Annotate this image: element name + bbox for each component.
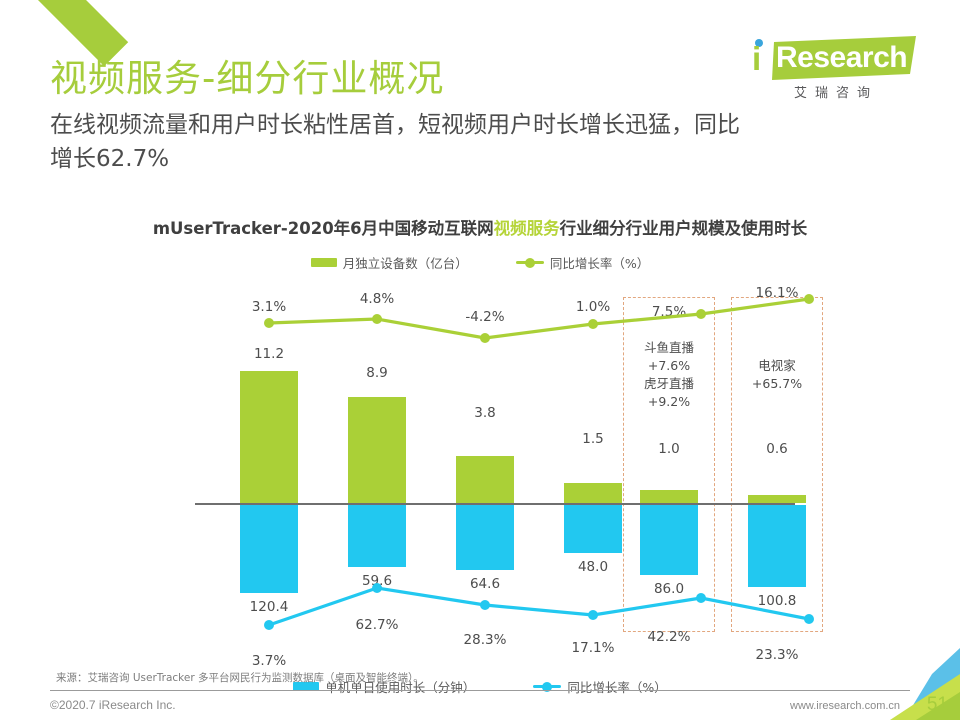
logo-letter-i: i [752,42,761,75]
bar-top-5 [748,495,806,503]
annotation-tv-live: 电视家 +65.7% [752,357,802,393]
growth-label-top-3: 1.0% [576,299,610,315]
annotation-game-line-1: +7.6% [648,358,690,373]
iresearch-logo: i Research 艾瑞咨询 [746,36,916,100]
chart-title-highlight: 视频服务 [494,219,560,238]
logo-wordmark: Research [776,43,907,73]
annotation-tv-line-0: 电视家 [758,358,796,373]
bar-top-3 [564,483,622,503]
growth-label-top-2: -4.2% [465,309,504,325]
chart-title-post: 行业细分行业用户规模及使用时长 [560,219,808,238]
value-label-bot-5: 100.8 [758,593,797,609]
chart-legend-top: 月独立设备数（亿台） 同比增长率（%） [50,253,910,272]
value-label-top-2: 3.8 [474,405,495,421]
value-label-top-3: 1.5 [582,431,603,447]
bar-bot-1 [348,505,406,567]
page-subtitle: 在线视频流量和用户时长粘性居首，短视频用户时长增长迅猛，同比增长62.7% [50,108,740,176]
growth-label-bot-2: 28.3% [464,632,507,648]
growth-label-top-4: 7.5% [652,304,686,320]
chart-title: mUserTracker-2020年6月中国移动互联网视频服务行业细分行业用户规… [50,215,910,239]
annotation-game-line-3: +9.2% [648,394,690,409]
annotation-tv-line-1: +65.7% [752,376,802,391]
growth-label-bot-3: 17.1% [572,640,615,656]
value-label-bot-0: 120.4 [250,599,289,615]
source-note: 来源：艾瑞咨询 UserTracker 多平台网民行为监测数据库（桌面及智能终端… [56,670,424,685]
bar-bot-3 [564,505,622,553]
growth-label-top-5: 16.1% [756,285,799,301]
bar-bot-2 [456,505,514,570]
legend-label-growth-blue: 同比增长率（%） [567,677,666,696]
bar-top-2 [456,456,514,503]
annotation-game-line-2: 虎牙直播 [644,376,694,391]
chart-column-0: 3.1% 11.2 在线视频 120.4 3.7% [219,277,319,650]
value-label-top-0: 11.2 [254,346,284,362]
bar-top-1 [348,397,406,503]
bar-top-4 [640,490,698,503]
legend-item-monthly-devices: 月独立设备数（亿台） [311,253,468,272]
growth-label-bot-1: 62.7% [356,617,399,633]
bar-bot-4 [640,505,698,575]
legend-item-growth-blue: 同比增长率（%） [533,677,666,696]
page-number: 51 [927,694,948,716]
value-label-top-1: 8.9 [366,365,387,381]
chart-plot-area: 3.1% 11.2 在线视频 120.4 3.7% 4.8% 8.9 短视频 5… [50,277,910,650]
value-label-top-4: 1.0 [658,441,679,457]
chart-column-3: 1.0% 1.5 社交直播 48.0 17.1% [543,277,643,650]
copyright-text: ©2020.7 iResearch Inc. [50,698,176,712]
legend-swatch-line-green-icon [516,261,544,264]
legend-label-growth-green: 同比增长率（%） [550,253,649,272]
value-label-top-5: 0.6 [766,441,787,457]
annotation-game-line-0: 斗鱼直播 [644,340,694,355]
annotation-game-live: 斗鱼直播 +7.6% 虎牙直播 +9.2% [644,339,694,411]
bar-bot-0 [240,505,298,593]
footer-divider [50,690,910,691]
chart-column-5: 16.1% 电视家 +65.7% 0.6 电视直播 100.8 23.3% [759,277,795,650]
legend-item-growth-green: 同比增长率（%） [516,253,649,272]
legend-label-monthly-devices: 月独立设备数（亿台） [343,253,468,272]
logo-chinese-name: 艾瑞咨询 [794,82,878,101]
value-label-bot-3: 48.0 [578,559,608,575]
value-label-bot-2: 64.6 [470,576,500,592]
legend-swatch-line-blue-icon [533,685,561,688]
growth-label-bot-5: 23.3% [756,647,799,663]
value-label-bot-4: 86.0 [654,581,684,597]
chart-title-pre: mUserTracker-2020年6月中国移动互联网 [153,219,494,238]
chart-column-4: 7.5% 斗鱼直播 +7.6% 虎牙直播 +9.2% 1.0 游戏直播 86.0… [651,277,687,650]
growth-label-top-1: 4.8% [360,291,394,307]
legend-swatch-bar-green-icon [311,258,337,267]
growth-label-bot-4: 42.2% [648,629,691,645]
value-label-bot-1: 59.6 [362,573,392,589]
bar-bot-5 [748,505,806,587]
chart-column-2: -4.2% 3.8 聚合视频 64.6 28.3% [435,277,535,650]
bar-top-0 [240,371,298,503]
chart-container: mUserTracker-2020年6月中国移动互联网视频服务行业细分行业用户规… [50,215,910,650]
growth-label-bot-0: 3.7% [252,653,286,669]
chart-column-1: 4.8% 8.9 短视频 59.6 62.7% [327,277,427,650]
growth-label-top-0: 3.1% [252,299,286,315]
